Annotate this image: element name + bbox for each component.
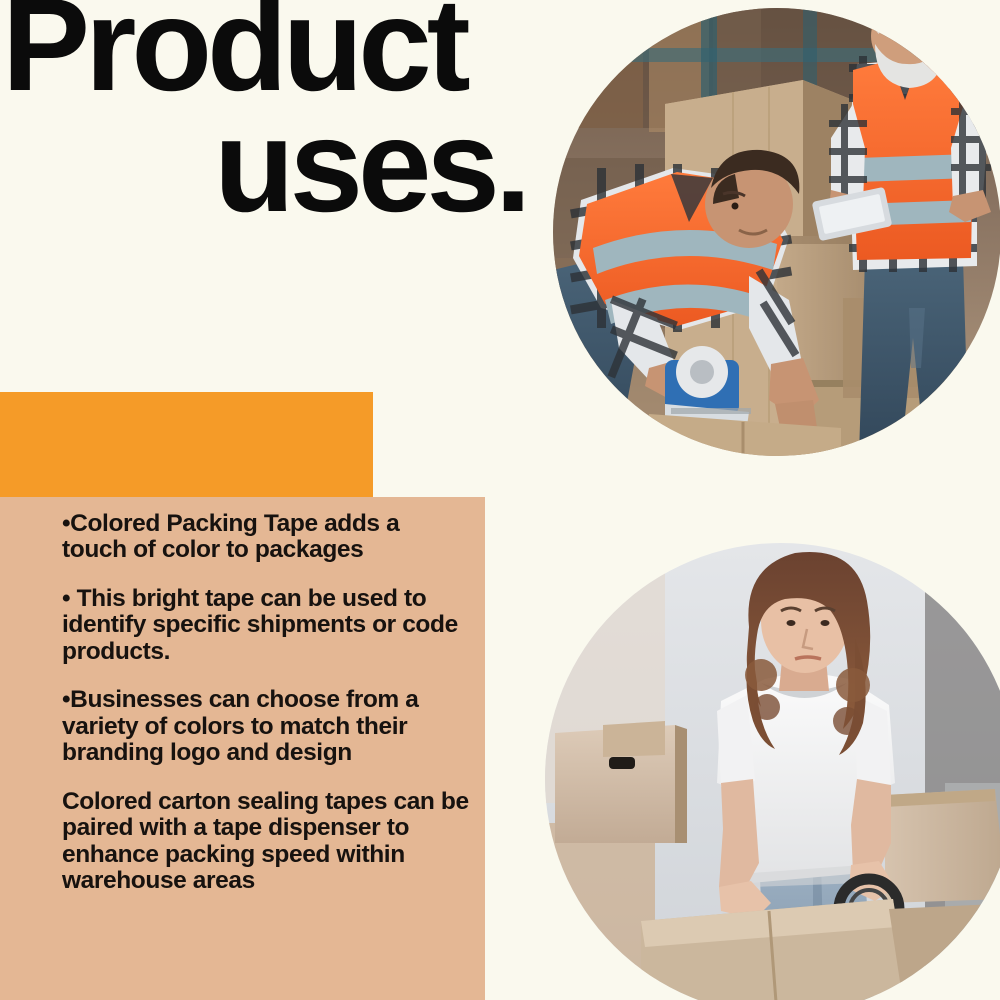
woman-packing-photo: [545, 543, 1000, 1000]
list-item: •Colored Packing Tape adds a touch of co…: [62, 511, 469, 564]
title-line-1: Product: [2, 0, 540, 105]
poster-canvas: Product uses. •Colored Packing Tape adds…: [0, 0, 1000, 1000]
orange-accent-block: [0, 392, 373, 498]
warehouse-workers-photo: [553, 8, 1000, 456]
list-item: •Businesses can choose from a variety of…: [62, 687, 469, 766]
bullet-panel: •Colored Packing Tape adds a touch of co…: [0, 497, 485, 1000]
list-item: Colored carton sealing tapes can be pair…: [62, 789, 469, 895]
woman-packing-image: [545, 543, 1000, 1000]
list-item: • This bright tape can be used to identi…: [62, 586, 469, 665]
title-line-2: uses.: [214, 105, 540, 226]
warehouse-workers-image: [553, 8, 1000, 456]
page-title: Product uses.: [0, 0, 540, 227]
